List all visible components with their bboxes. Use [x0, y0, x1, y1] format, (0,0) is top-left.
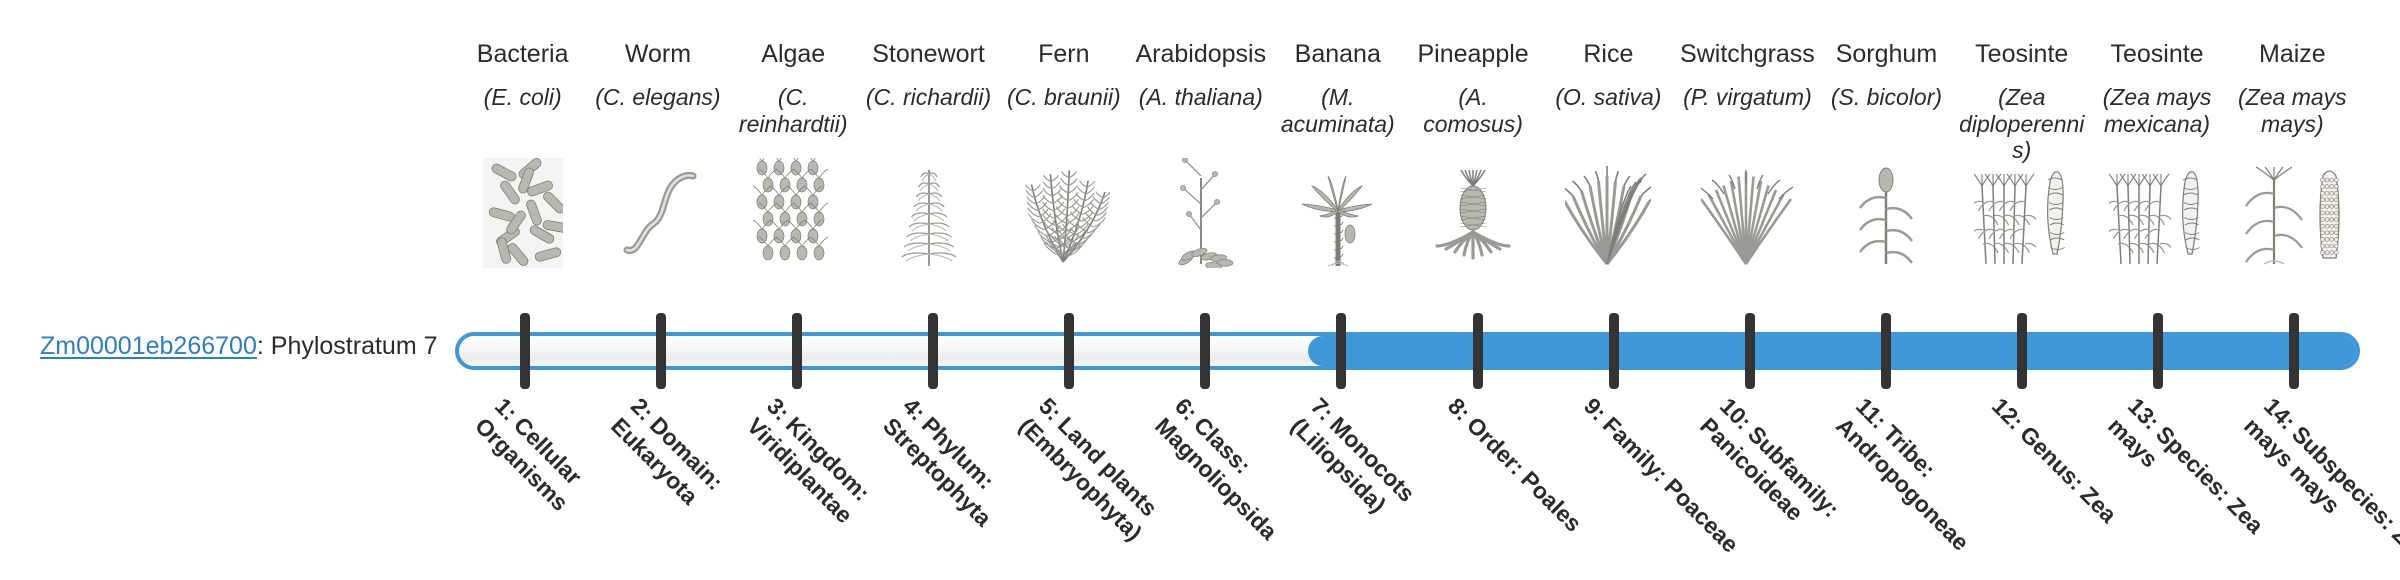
species-column: Sorghum(S. bicolor)	[1819, 40, 1954, 310]
timeline-tick[interactable]	[1609, 313, 1619, 389]
gene-label-separator: :	[257, 332, 271, 360]
timeline-tick[interactable]	[1200, 313, 1210, 389]
species-scientific-name: (C. braunii)	[1007, 84, 1121, 146]
species-column: Banana(M. acuminata)	[1270, 40, 1405, 310]
species-column: Switchgrass(P. virgatum)	[1676, 40, 1819, 310]
species-common-name: Maize	[2259, 40, 2326, 72]
timeline-tick[interactable]	[2017, 313, 2027, 389]
timeline-tick[interactable]	[1745, 313, 1755, 389]
taxonomic-rank-labels: 1: Cellular Organisms2: Domain: Eukaryot…	[455, 392, 2360, 580]
phylostratum-timeline	[455, 300, 2400, 400]
rank-number: 12:	[1987, 393, 2029, 435]
species-common-name: Pineapple	[1417, 40, 1528, 72]
phylostratum-value: Phylostratum 7	[271, 332, 438, 360]
species-common-name: Fern	[1038, 40, 1089, 72]
species-column: Bacteria(E. coli)	[455, 40, 590, 310]
rank-text: Order: Poales	[1461, 412, 1586, 537]
arabidopsis-icon	[1135, 150, 1266, 268]
species-scientific-name: (C. richardii)	[866, 84, 991, 146]
species-scientific-name: (P. virgatum)	[1683, 84, 1812, 146]
species-common-name: Rice	[1583, 40, 1633, 72]
timeline-tick[interactable]	[1064, 313, 1074, 389]
timeline-tick[interactable]	[520, 313, 530, 389]
stonewort-icon	[865, 150, 992, 268]
rank-text: Subfamily: Panicoideae	[1695, 413, 1844, 526]
species-common-name: Bacteria	[477, 40, 569, 72]
species-column: Rice(O. sativa)	[1541, 40, 1676, 310]
gene-phylostratum-label: Zm00001eb266700: Phylostratum 7	[40, 334, 420, 359]
species-common-name: Teosinte	[1975, 40, 2068, 72]
species-column: Pineapple(A. comosus)	[1405, 40, 1540, 310]
species-scientific-name: (Zea diploperennis)	[1958, 84, 2085, 146]
timeline-tick[interactable]	[1473, 313, 1483, 389]
species-scientific-name: (C. reinhardtii)	[730, 84, 857, 146]
species-column: Algae(C. reinhardtii)	[726, 40, 861, 310]
species-common-name: Sorghum	[1836, 40, 1937, 72]
sorghum-plant-icon	[1823, 150, 1950, 268]
switchgrass-icon	[1680, 150, 1815, 268]
teosinte-plant-ear-icon	[2093, 150, 2220, 268]
species-common-name: Arabidopsis	[1135, 40, 1266, 72]
rank-text: Monocots (Liliopsida)	[1287, 412, 1421, 518]
species-scientific-name: (A. comosus)	[1409, 84, 1536, 146]
banana-plant-icon	[1274, 150, 1401, 268]
maize-plant-ear-icon	[2229, 150, 2356, 268]
species-common-name: Worm	[625, 40, 691, 72]
gene-id-link[interactable]: Zm00001eb266700	[40, 332, 257, 360]
species-column: Arabidopsis(A. thaliana)	[1131, 40, 1270, 310]
species-scientific-name: (Zea mays mays)	[2229, 84, 2356, 146]
teosinte-plant-ear-icon	[1958, 150, 2085, 268]
nematode-worm-icon	[594, 150, 721, 268]
timeline-tick[interactable]	[792, 313, 802, 389]
fern-frond-icon	[1000, 150, 1127, 268]
species-scientific-name: (Zea mays mexicana)	[2093, 84, 2220, 146]
species-scientific-name: (C. elegans)	[595, 84, 720, 146]
species-scientific-name: (A. thaliana)	[1139, 84, 1263, 146]
timeline-tick[interactable]	[1881, 313, 1891, 389]
species-column: Teosinte(Zea diploperennis)	[1954, 40, 2089, 310]
rank-text: Cellular Organisms	[470, 412, 587, 516]
species-column: Stonewort(C. richardii)	[861, 40, 996, 310]
timeline-tick[interactable]	[2289, 313, 2299, 389]
timeline-tick[interactable]	[928, 313, 938, 389]
species-column: Teosinte(Zea mays mexicana)	[2089, 40, 2224, 310]
rice-plant-icon	[1545, 150, 1672, 268]
timeline-tick[interactable]	[1336, 313, 1346, 389]
rank-text: Domain: Eukaryota	[606, 412, 728, 510]
bacteria-rods-icon	[459, 150, 586, 268]
timeline-tick[interactable]	[656, 313, 666, 389]
algae-cells-icon	[730, 150, 857, 268]
species-common-name: Switchgrass	[1680, 40, 1815, 72]
species-common-name: Algae	[761, 40, 825, 72]
species-common-name: Banana	[1295, 40, 1381, 72]
species-common-name: Stonewort	[872, 40, 985, 72]
species-columns: Bacteria(E. coli)Worm(C. elegans)Algae(C…	[455, 40, 2360, 310]
species-column: Maize(Zea mays mays)	[2225, 40, 2360, 310]
timeline-tick[interactable]	[2153, 313, 2163, 389]
phylostratigraphy-figure: Zm00001eb266700: Phylostratum 7 Bacteria…	[0, 0, 2400, 580]
pineapple-plant-icon	[1409, 150, 1536, 268]
species-common-name: Teosinte	[2110, 40, 2203, 72]
species-scientific-name: (E. coli)	[484, 84, 562, 146]
species-scientific-name: (M. acuminata)	[1274, 84, 1401, 146]
species-column: Worm(C. elegans)	[590, 40, 725, 310]
timeline-ticks	[455, 300, 2360, 400]
species-scientific-name: (S. bicolor)	[1831, 84, 1942, 146]
species-column: Fern(C. braunii)	[996, 40, 1131, 310]
rank-text: Genus: Zea	[2015, 421, 2122, 528]
species-scientific-name: (O. sativa)	[1555, 84, 1661, 146]
